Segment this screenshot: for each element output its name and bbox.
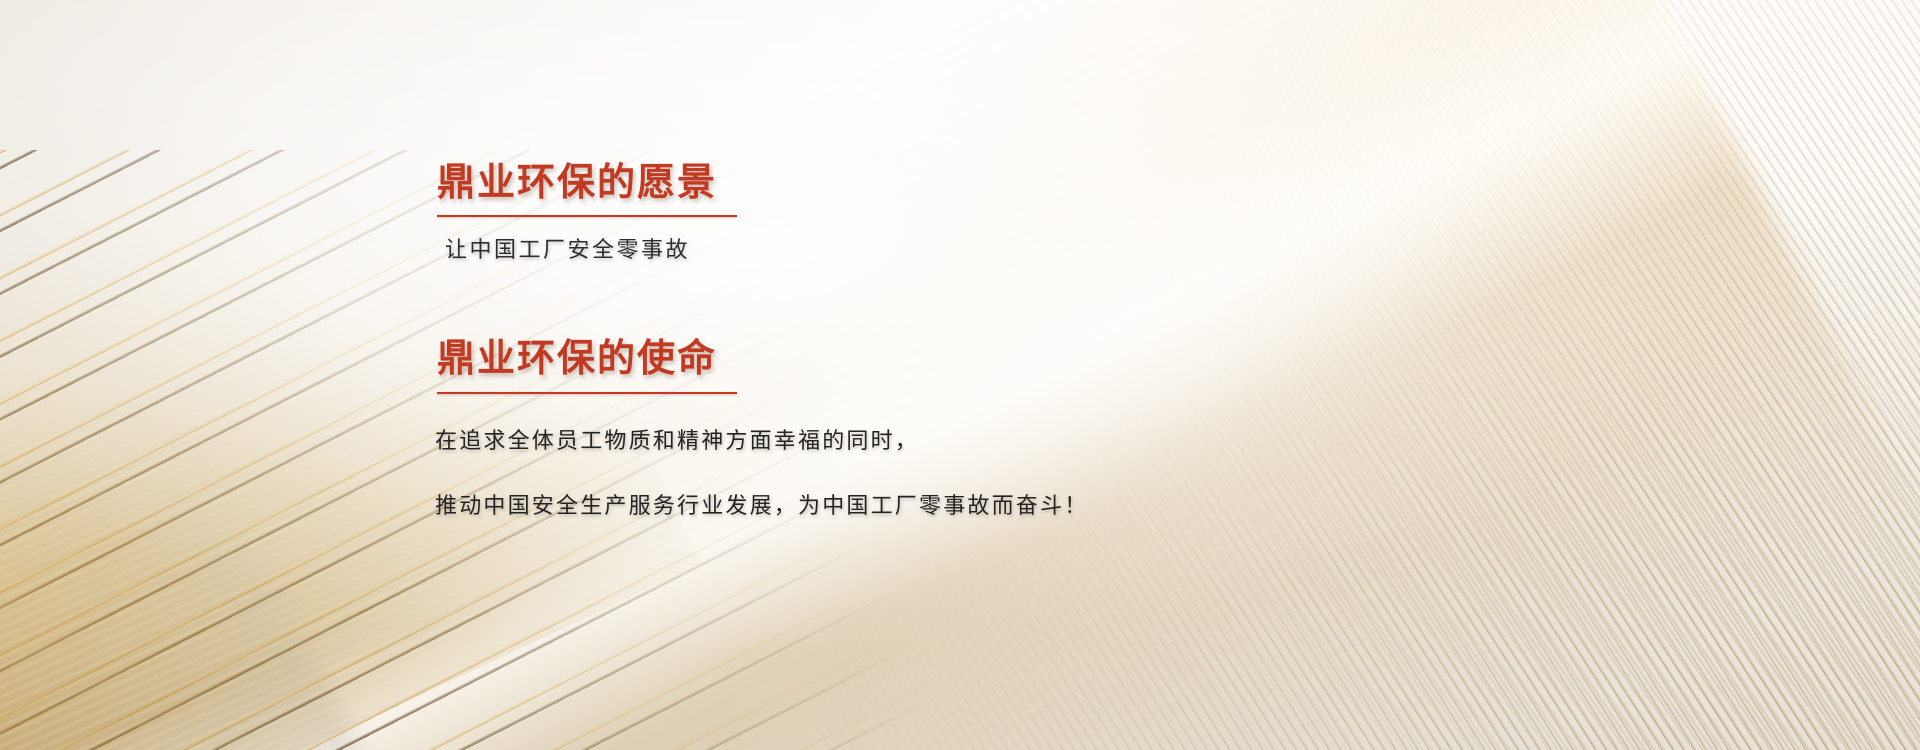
vision-mission-banner: 鼎业环保的愿景 让中国工厂安全零事故 鼎业环保的使命 在追求全体员工物质和精神方… <box>0 0 1920 750</box>
mission-heading: 鼎业环保的使命 <box>435 336 719 391</box>
mission-block: 鼎业环保的使命 在追求全体员工物质和精神方面幸福的同时， 推动中国安全生产服务行… <box>435 336 1335 527</box>
vision-block: 鼎业环保的愿景 让中国工厂安全零事故 <box>435 160 1335 266</box>
mission-body: 在追求全体员工物质和精神方面幸福的同时， 推动中国安全生产服务行业发展，为中国工… <box>435 420 1335 528</box>
vision-subtitle: 让中国工厂安全零事故 <box>445 233 1335 266</box>
mission-line-2: 推动中国安全生产服务行业发展，为中国工厂零事故而奋斗！ <box>435 485 1335 528</box>
vision-heading-underline <box>437 215 737 217</box>
mission-heading-underline <box>437 392 737 394</box>
vision-heading: 鼎业环保的愿景 <box>435 160 719 215</box>
banner-content: 鼎业环保的愿景 让中国工厂安全零事故 鼎业环保的使命 在追求全体员工物质和精神方… <box>435 160 1335 550</box>
mission-line-1: 在追求全体员工物质和精神方面幸福的同时， <box>435 420 1335 463</box>
